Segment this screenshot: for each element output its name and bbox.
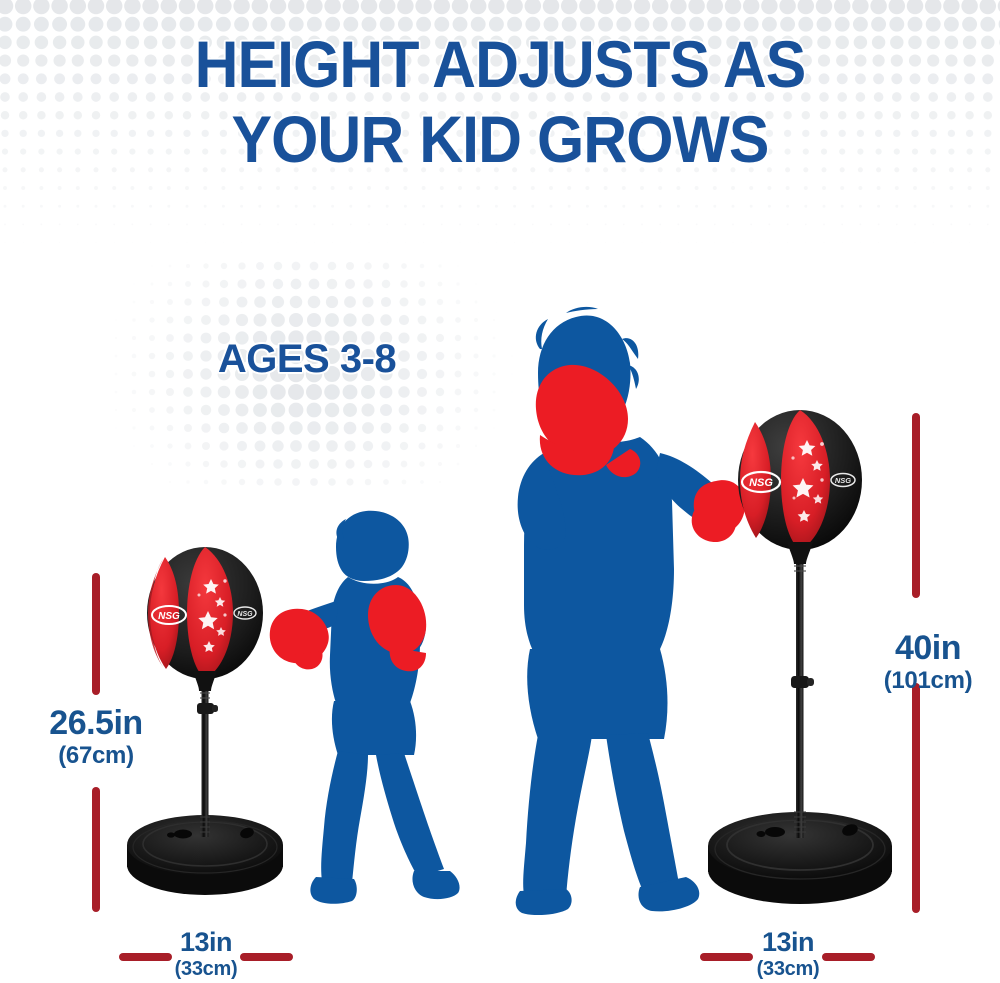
svg-text:NSG: NSG <box>237 611 253 618</box>
height-label-large: 40in (101cm) <box>856 630 1000 696</box>
height-bar-large-upper <box>912 413 920 598</box>
height-bar-large-lower <box>912 683 920 913</box>
svg-text:NSG: NSG <box>835 476 851 485</box>
page-title-line-1: HEIGHT ADJUSTS AS <box>40 28 960 100</box>
svg-text:NSG: NSG <box>749 477 773 489</box>
width-label-small: 13in (33cm) <box>146 928 266 981</box>
pole-large <box>791 558 814 838</box>
page-title-line-2: YOUR KID GROWS <box>40 103 960 175</box>
punching-ball-small: NSG NSG <box>147 547 263 691</box>
width-label-large: 13in (33cm) <box>728 928 848 981</box>
pole-small <box>197 685 218 837</box>
punching-ball-large: NSG NSG <box>738 410 862 564</box>
svg-text:NSG: NSG <box>158 611 180 622</box>
height-bar-small-lower <box>92 787 100 912</box>
ages-badge: AGES 3-8 <box>132 337 482 382</box>
height-label-small: 26.5in (67cm) <box>16 705 176 771</box>
height-bar-small-upper <box>92 573 100 695</box>
